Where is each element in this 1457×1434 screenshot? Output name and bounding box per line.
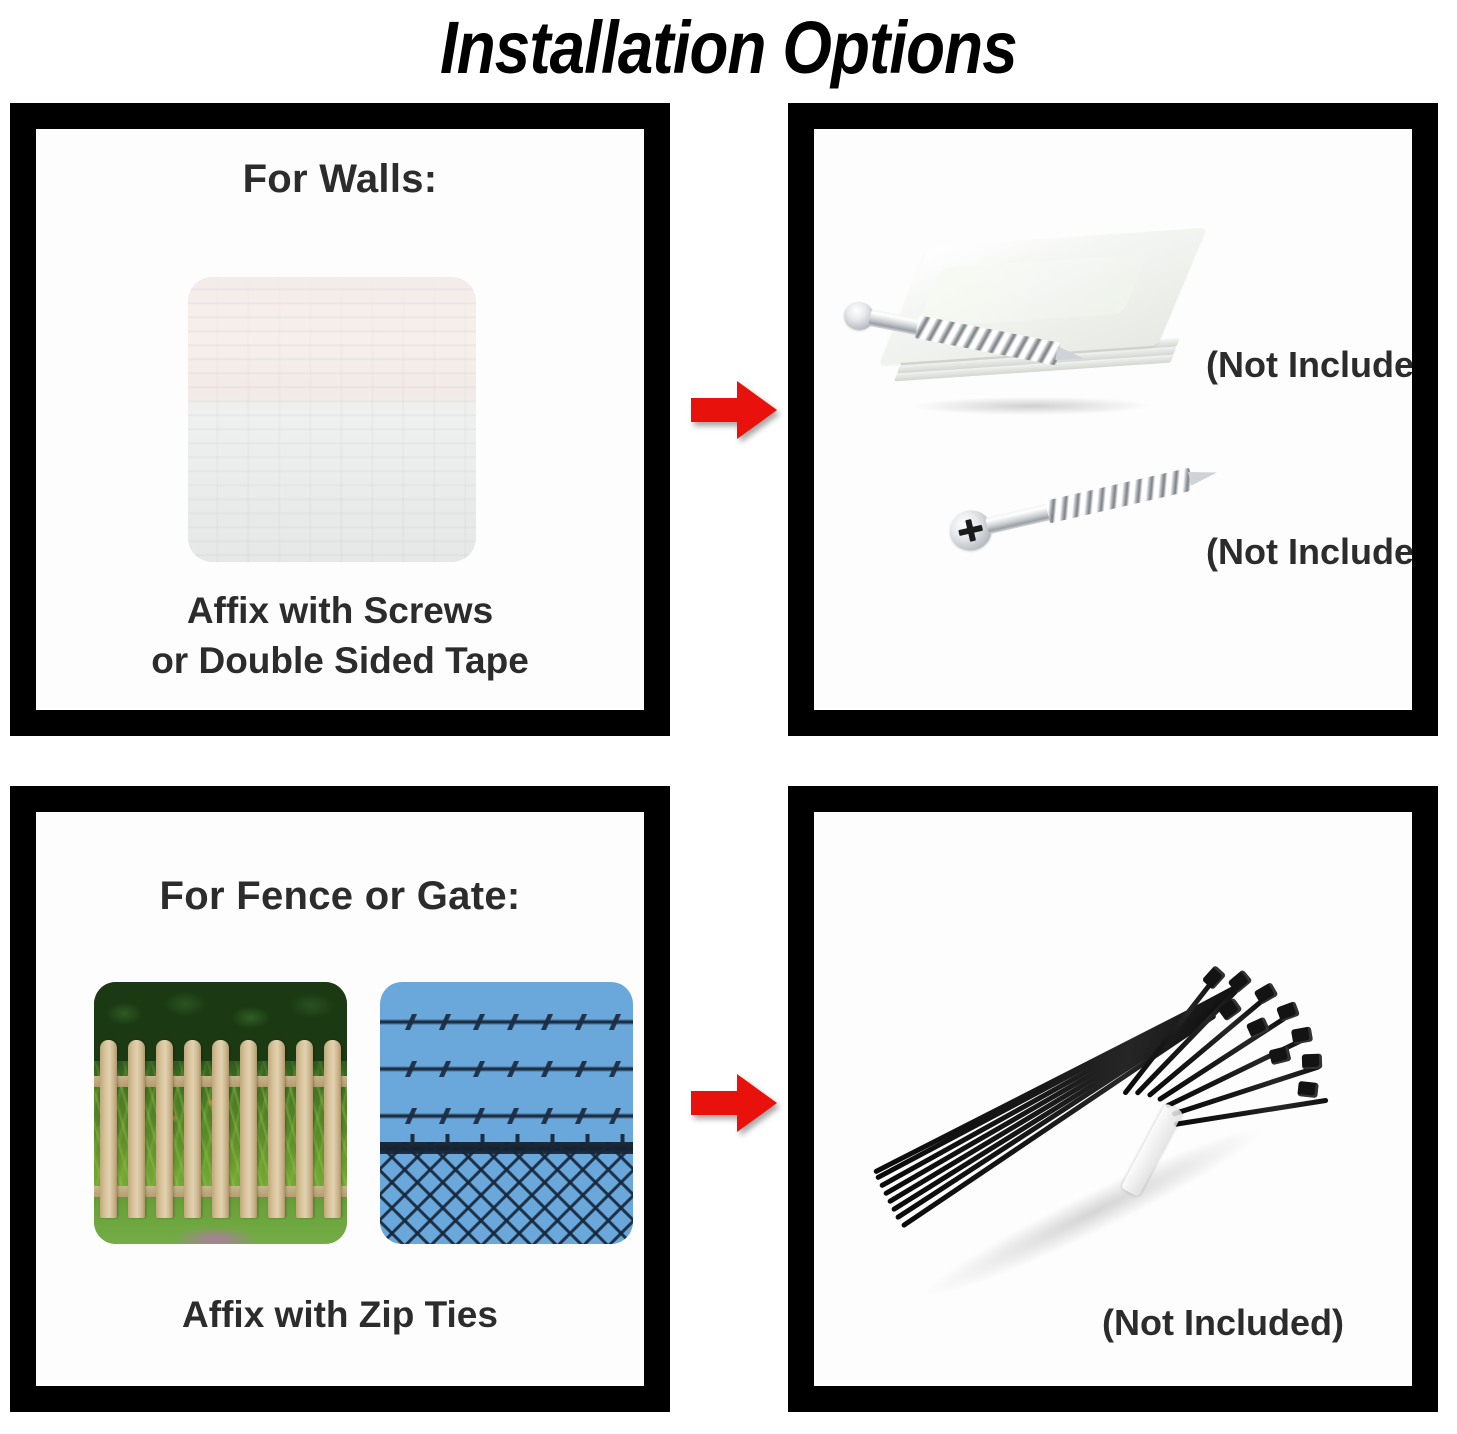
screw-tip: [1188, 466, 1218, 486]
screw-threads: [1045, 468, 1194, 524]
fence-slat: [184, 1040, 201, 1218]
panel-wall-hardware: (Not Included) (Not Included): [788, 103, 1438, 736]
fence-caption: Affix with Zip Ties: [36, 1290, 644, 1340]
fence-slat: [268, 1040, 285, 1218]
walls-caption: Affix with Screws or Double Sided Tape: [36, 586, 644, 686]
chain-link-mesh: [380, 1142, 633, 1244]
zip-tie-head: [1302, 1054, 1323, 1070]
fence-slat: [156, 1040, 173, 1218]
white-brick-wall-image: [188, 277, 476, 562]
panel-for-walls: For Walls: Affix with Screws or Double S…: [10, 103, 670, 736]
screws-not-included-label: (Not Included): [1206, 531, 1412, 573]
fence-slat: [212, 1040, 229, 1218]
fence-slat: [128, 1040, 145, 1218]
page-title: Installation Options: [440, 11, 1017, 85]
picket-fence-image: [94, 982, 347, 1244]
arrow-right-icon: [689, 379, 779, 441]
panel-for-fence-or-gate: For Fence or Gate:: [10, 786, 670, 1412]
chain-link-fence-image: [380, 982, 633, 1244]
walls-caption-line1: Affix with Screws: [36, 586, 644, 636]
zipties-not-included-label: (Not Included): [1102, 1302, 1344, 1344]
panel-wall-hardware-content: (Not Included) (Not Included): [814, 129, 1412, 710]
fence-slat: [324, 1040, 341, 1218]
zip-tie-shadow: [914, 1111, 1273, 1314]
arrow-right-icon: [689, 1072, 779, 1134]
zip-tie-head: [1291, 1026, 1313, 1044]
panel-zip-ties: (Not Included): [788, 786, 1438, 1412]
panel-for-fence-or-gate-content: For Fence or Gate:: [36, 812, 644, 1386]
barbed-wire-strand: [380, 1019, 633, 1025]
barbed-wire-strand: [380, 1066, 633, 1072]
zip-tie-head: [1297, 1081, 1318, 1098]
fence-slat: [240, 1040, 257, 1218]
fence-heading: For Fence or Gate:: [36, 874, 644, 919]
page-title-bar: Installation Options: [0, 0, 1457, 96]
picket-fence-slats: [94, 982, 347, 1244]
barbed-wire-strand: [380, 1113, 633, 1119]
zip-tie-head: [1268, 1046, 1291, 1065]
walls-caption-line2: or Double Sided Tape: [36, 636, 644, 686]
walls-heading: For Walls:: [36, 157, 644, 202]
zip-tie-bundle-image: [874, 942, 1354, 1302]
fence-slat: [296, 1040, 313, 1218]
tape-not-included-label: (Not Included): [1206, 344, 1412, 386]
screw-shank: [985, 503, 1053, 534]
tape-shadow: [910, 397, 1154, 415]
panel-zip-ties-content: (Not Included): [814, 812, 1412, 1386]
zip-tie-head: [1246, 1017, 1270, 1039]
fence-slat: [100, 1040, 117, 1218]
zip-tie-head: [1276, 1001, 1300, 1022]
panel-for-walls-content: For Walls: Affix with Screws or Double S…: [36, 129, 644, 710]
